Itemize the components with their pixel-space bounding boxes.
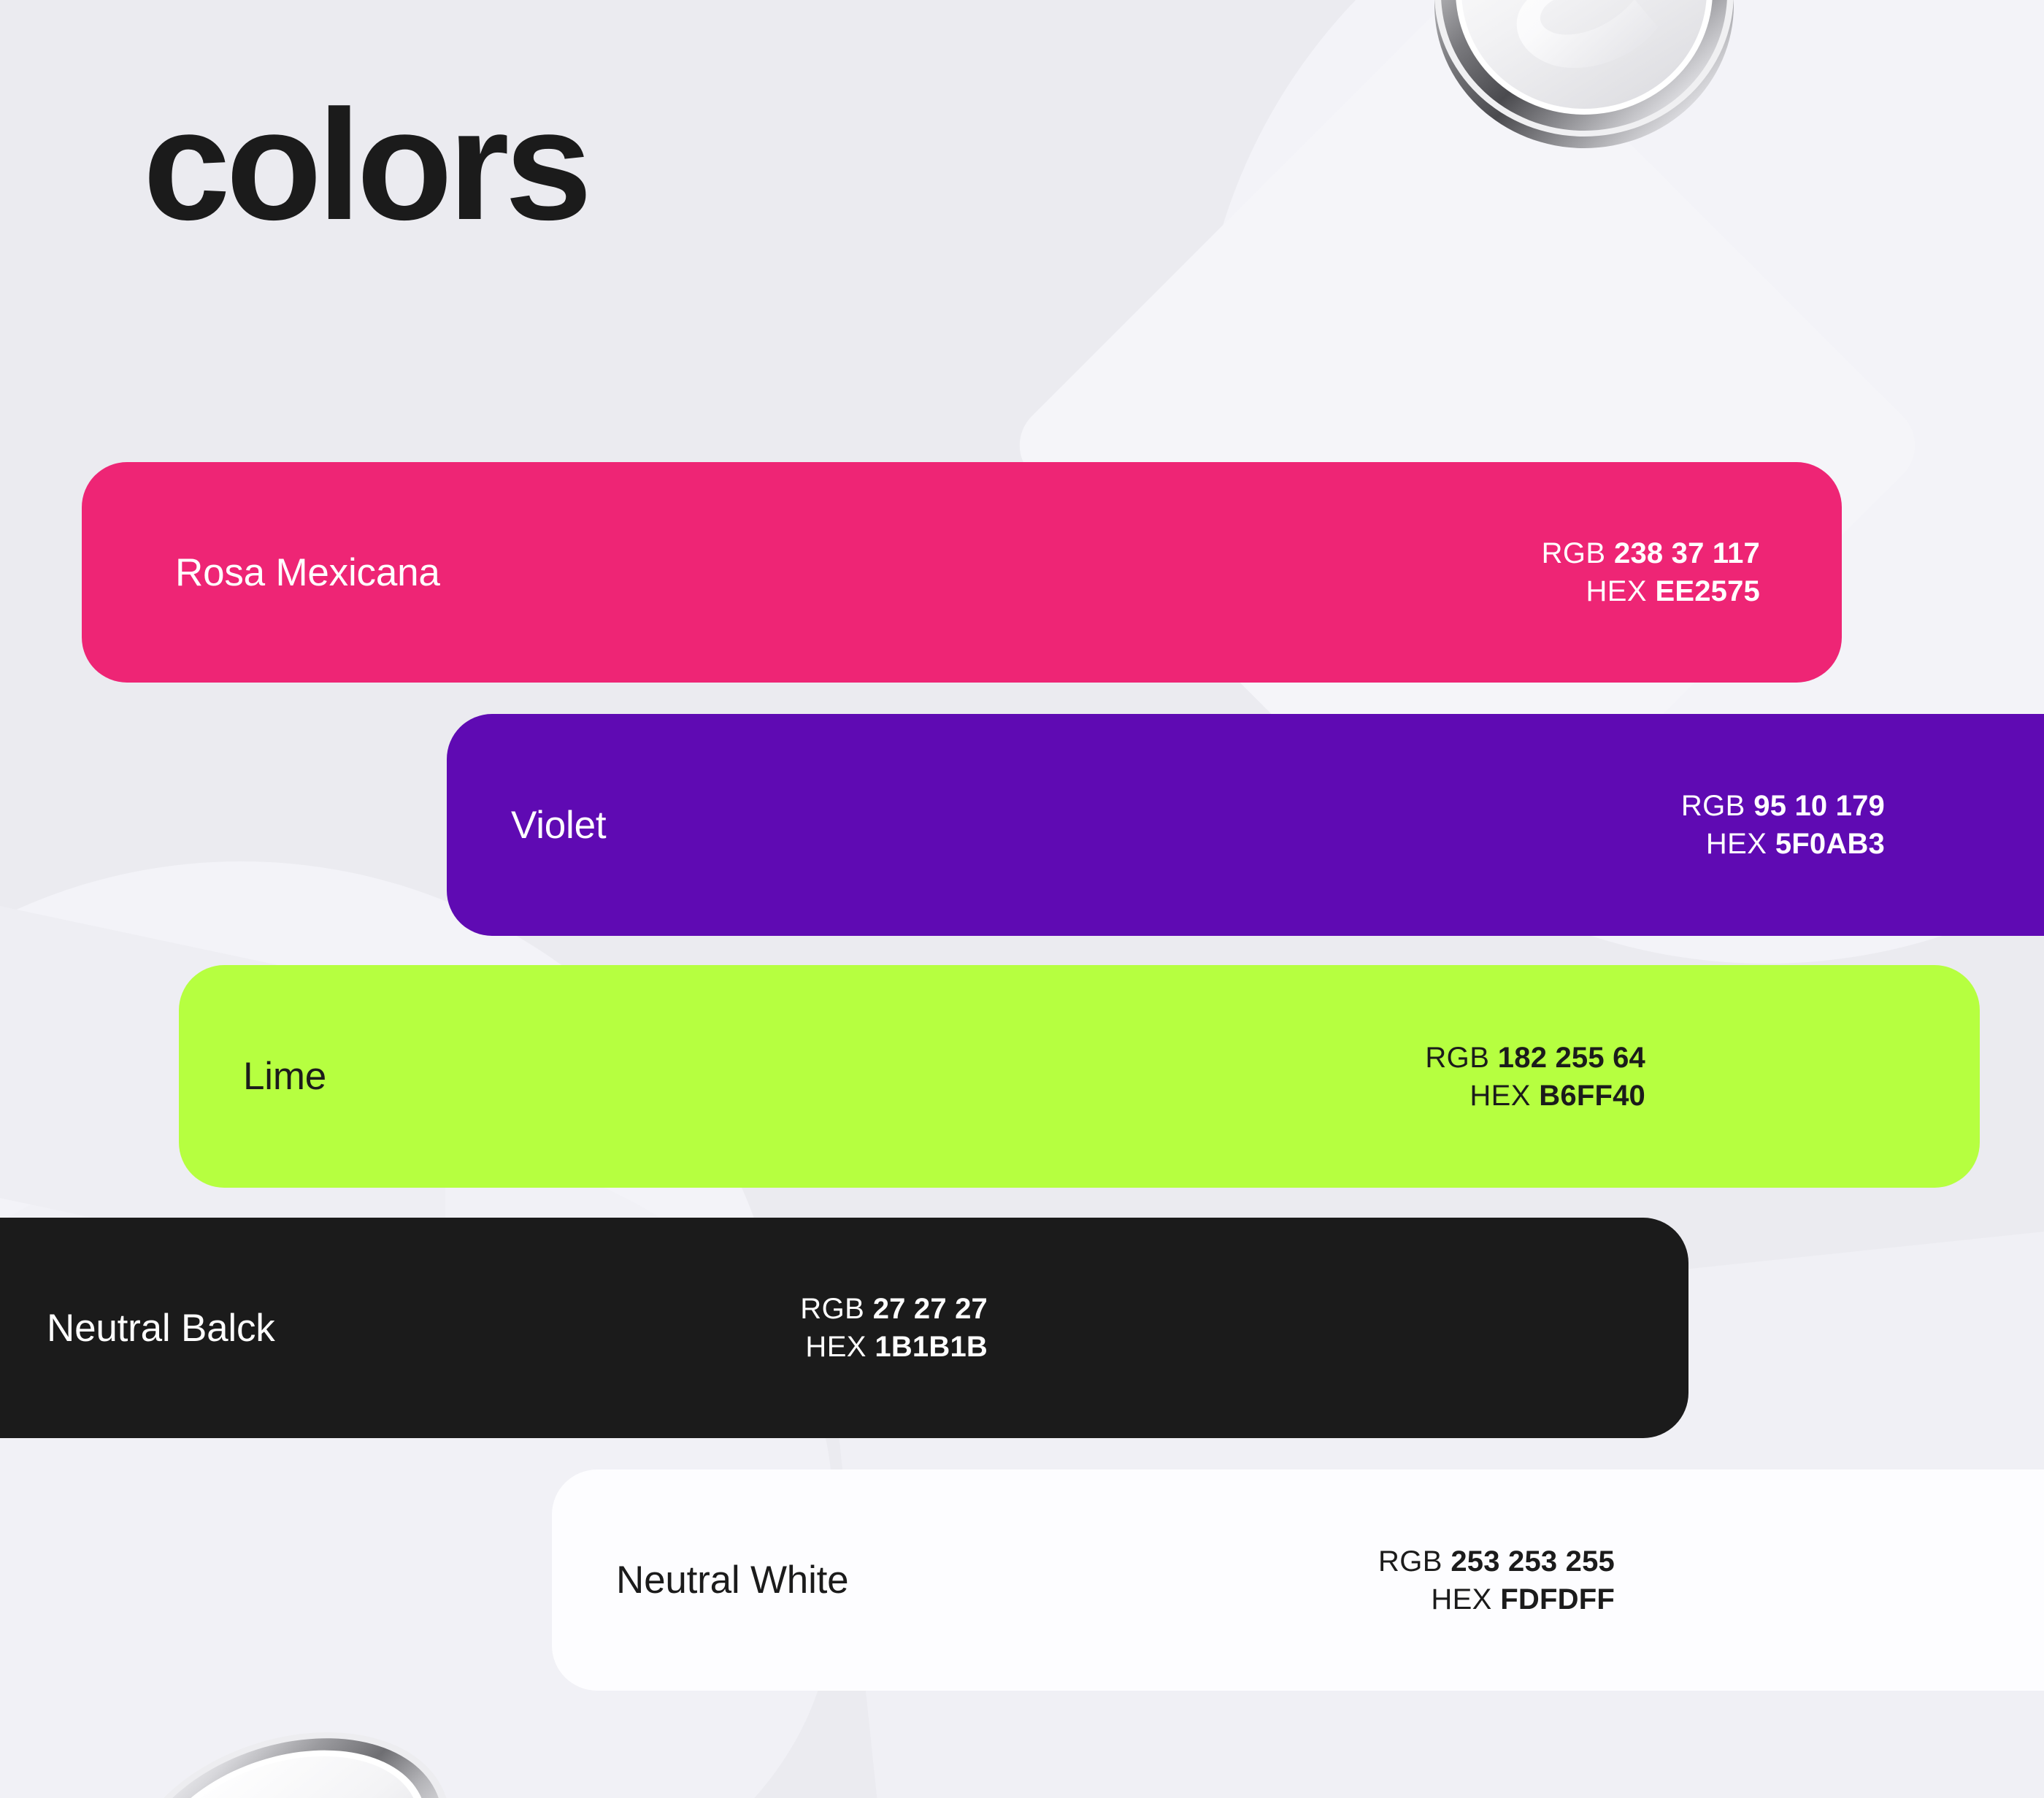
hex-label: HEX xyxy=(1706,828,1767,860)
color-swatch-neutral-black[interactable]: Neutral Balck RGB 27 27 27 HEX 1B1B1B xyxy=(0,1218,1688,1438)
color-swatch-lime[interactable]: Lime RGB 182 255 64 HEX B6FF40 xyxy=(179,965,1980,1188)
swatch-values-rosa-mexicana: RGB 238 37 117 HEX EE2575 xyxy=(1542,534,1760,610)
hex-value-neutral-black: 1B1B1B xyxy=(875,1331,988,1363)
color-swatch-neutral-white[interactable]: Neutral White RGB 253 253 255 HEX FDFDFF xyxy=(552,1469,2044,1691)
rgb-value-neutral-black: 27 27 27 xyxy=(873,1293,988,1325)
chrome-coin-icon xyxy=(1427,0,1741,157)
swatch-hex-line-lime: HEX B6FF40 xyxy=(1425,1077,1645,1115)
swatch-values-neutral-black: RGB 27 27 27 HEX 1B1B1B xyxy=(800,1290,988,1366)
page-title: colors xyxy=(143,86,588,243)
rgb-label: RGB xyxy=(1681,790,1745,822)
hex-label: HEX xyxy=(1469,1080,1530,1112)
swatch-values-neutral-white: RGB 253 253 255 HEX FDFDFF xyxy=(1378,1542,1615,1618)
swatch-rgb-line-lime: RGB 182 255 64 xyxy=(1425,1039,1645,1077)
swatch-rgb-line-violet: RGB 95 10 179 xyxy=(1681,787,1885,825)
swatch-hex-line-rosa-mexicana: HEX EE2575 xyxy=(1542,572,1760,610)
hex-label: HEX xyxy=(805,1331,866,1363)
rgb-label: RGB xyxy=(1425,1042,1489,1074)
color-swatch-violet[interactable]: Violet RGB 95 10 179 HEX 5F0AB3 xyxy=(447,714,2044,936)
swatch-values-violet: RGB 95 10 179 HEX 5F0AB3 xyxy=(1681,787,1885,863)
rgb-value-lime: 182 255 64 xyxy=(1498,1042,1645,1074)
chrome-coin-icon-bottom xyxy=(72,1634,504,1798)
hex-value-neutral-white: FDFDFF xyxy=(1500,1583,1615,1615)
swatch-rgb-line-rosa-mexicana: RGB 238 37 117 xyxy=(1542,534,1760,572)
swatch-values-lime: RGB 182 255 64 HEX B6FF40 xyxy=(1425,1039,1645,1115)
swatch-hex-line-neutral-white: HEX FDFDFF xyxy=(1378,1580,1615,1618)
rgb-value-violet: 95 10 179 xyxy=(1753,790,1885,822)
chrome-coin-icon xyxy=(72,1634,504,1798)
swatch-name-neutral-white: Neutral White xyxy=(616,1558,848,1602)
rgb-value-rosa-mexicana: 238 37 117 xyxy=(1614,537,1760,569)
swatch-hex-line-neutral-black: HEX 1B1B1B xyxy=(800,1328,988,1366)
swatch-name-neutral-black: Neutral Balck xyxy=(47,1306,275,1351)
rgb-value-neutral-white: 253 253 255 xyxy=(1451,1545,1615,1578)
chrome-coin-icon-top xyxy=(1427,0,1741,157)
colors-palette-page: colors Rosa Mexicana RGB 238 37 117 HEX … xyxy=(0,0,2044,1798)
swatch-rgb-line-neutral-black: RGB 27 27 27 xyxy=(800,1290,988,1328)
rgb-label: RGB xyxy=(1542,537,1606,569)
hex-label: HEX xyxy=(1586,575,1646,607)
hex-label: HEX xyxy=(1431,1583,1491,1615)
hex-value-violet: 5F0AB3 xyxy=(1775,828,1885,860)
color-swatch-rosa-mexicana[interactable]: Rosa Mexicana RGB 238 37 117 HEX EE2575 xyxy=(82,462,1842,683)
hex-value-rosa-mexicana: EE2575 xyxy=(1655,575,1760,607)
swatch-name-violet: Violet xyxy=(511,803,606,848)
swatch-hex-line-violet: HEX 5F0AB3 xyxy=(1681,825,1885,863)
swatch-name-rosa-mexicana: Rosa Mexicana xyxy=(175,550,440,595)
swatch-name-lime: Lime xyxy=(243,1054,326,1099)
hex-value-lime: B6FF40 xyxy=(1539,1080,1645,1112)
rgb-label: RGB xyxy=(800,1293,864,1325)
swatch-rgb-line-neutral-white: RGB 253 253 255 xyxy=(1378,1542,1615,1580)
rgb-label: RGB xyxy=(1378,1545,1442,1578)
